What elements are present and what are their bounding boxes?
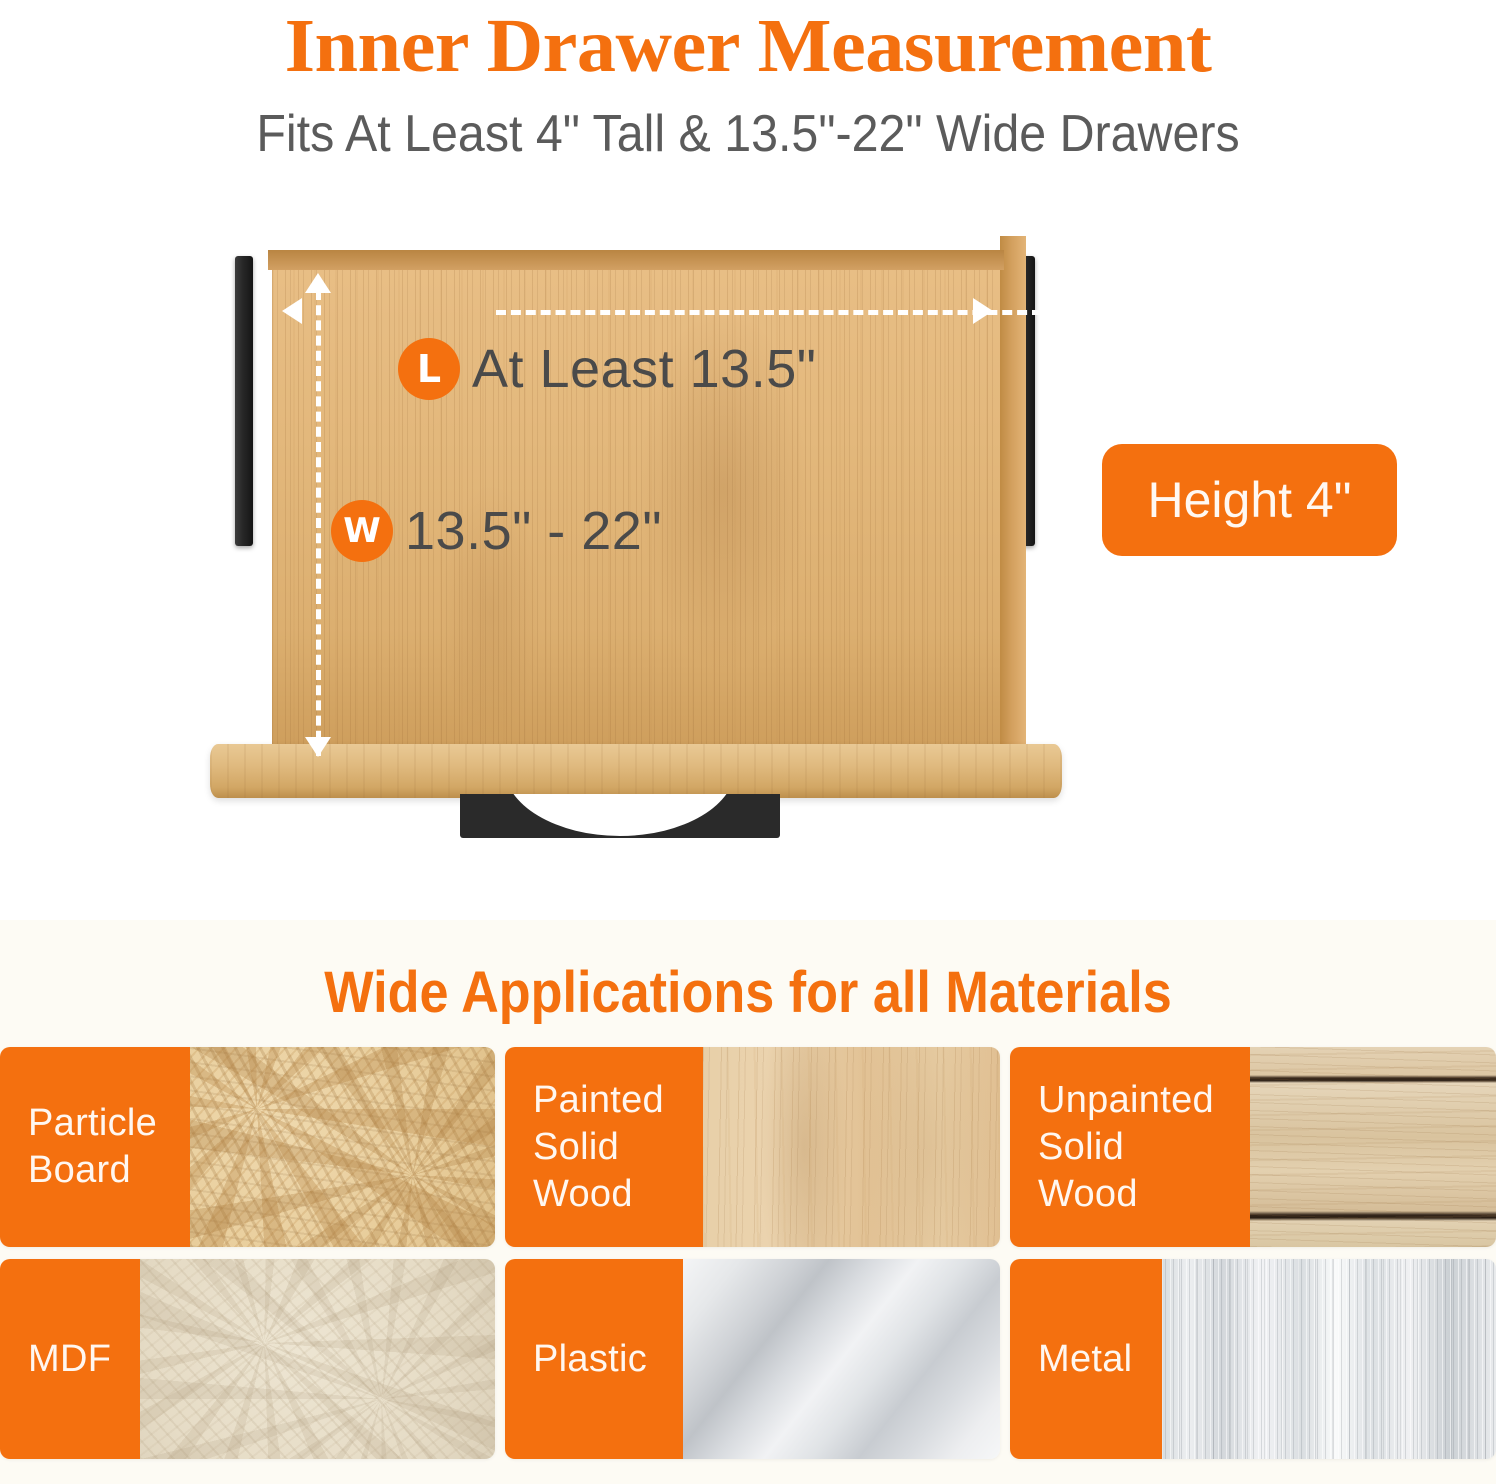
- material-card-particle-board: Particle Board: [0, 1047, 495, 1247]
- plastic-swatch: [683, 1259, 1000, 1459]
- material-label-line: Metal: [1038, 1336, 1152, 1383]
- metal-swatch: [1162, 1259, 1496, 1459]
- material-label-line: Wood: [533, 1171, 693, 1218]
- material-label-line: Plastic: [533, 1336, 673, 1383]
- width-badge-icon: W: [331, 500, 393, 562]
- material-card-unpainted-solid-wood: Unpainted Solid Wood: [1010, 1047, 1496, 1247]
- height-badge: Height 4": [1102, 444, 1397, 556]
- width-measurement: W 13.5" - 22": [331, 500, 662, 562]
- material-label-line: Painted: [533, 1077, 693, 1124]
- length-dashed-line: [496, 310, 1176, 315]
- material-label-line: Board: [28, 1147, 180, 1194]
- materials-section-title: Wide Applications for all Materials: [75, 960, 1421, 1026]
- length-value: At Least 13.5": [472, 340, 816, 398]
- material-label-line: Solid: [533, 1124, 693, 1171]
- material-label: Plastic: [505, 1259, 683, 1459]
- material-card-painted-solid-wood: Painted Solid Wood: [505, 1047, 1000, 1247]
- arrow-right-icon: [973, 298, 993, 324]
- material-card-plastic: Plastic: [505, 1259, 1000, 1459]
- unpainted-solid-wood-swatch: [1250, 1047, 1496, 1247]
- arrow-down-icon: [305, 737, 331, 757]
- material-card-mdf: MDF: [0, 1259, 495, 1459]
- width-value: 13.5" - 22": [405, 502, 662, 560]
- measurement-annotations: L At Least 13.5" W 13.5" - 22": [196, 228, 1076, 838]
- material-label: Particle Board: [0, 1047, 190, 1247]
- painted-solid-wood-swatch: [703, 1047, 1000, 1247]
- material-label: MDF: [0, 1259, 140, 1459]
- mdf-swatch: [140, 1259, 495, 1459]
- material-label-line: Particle: [28, 1100, 180, 1147]
- drawer-illustration: L At Least 13.5" W 13.5" - 22": [196, 228, 1076, 838]
- arrow-up-icon: [305, 273, 331, 293]
- material-label-line: Unpainted: [1038, 1077, 1240, 1124]
- length-measurement: L At Least 13.5": [398, 338, 816, 400]
- materials-section: Wide Applications for all Materials Part…: [0, 920, 1496, 1484]
- length-badge-icon: L: [398, 338, 460, 400]
- material-label: Painted Solid Wood: [505, 1047, 703, 1247]
- material-label: Metal: [1010, 1259, 1162, 1459]
- width-dashed-line: [316, 290, 321, 756]
- material-label: Unpainted Solid Wood: [1010, 1047, 1250, 1247]
- material-label-line: MDF: [28, 1336, 130, 1383]
- material-label-line: Wood: [1038, 1171, 1240, 1218]
- material-card-metal: Metal: [1010, 1259, 1496, 1459]
- measurement-section: Inner Drawer Measurement Fits At Least 4…: [0, 0, 1496, 920]
- materials-grid: Particle Board Painted Solid Wood Unpain…: [0, 1047, 1496, 1459]
- page-title: Inner Drawer Measurement: [0, 4, 1496, 88]
- material-label-line: Solid: [1038, 1124, 1240, 1171]
- page-subtitle: Fits At Least 4" Tall & 13.5"-22" Wide D…: [52, 103, 1443, 165]
- arrow-left-icon: [282, 298, 302, 324]
- particle-board-swatch: [190, 1047, 495, 1247]
